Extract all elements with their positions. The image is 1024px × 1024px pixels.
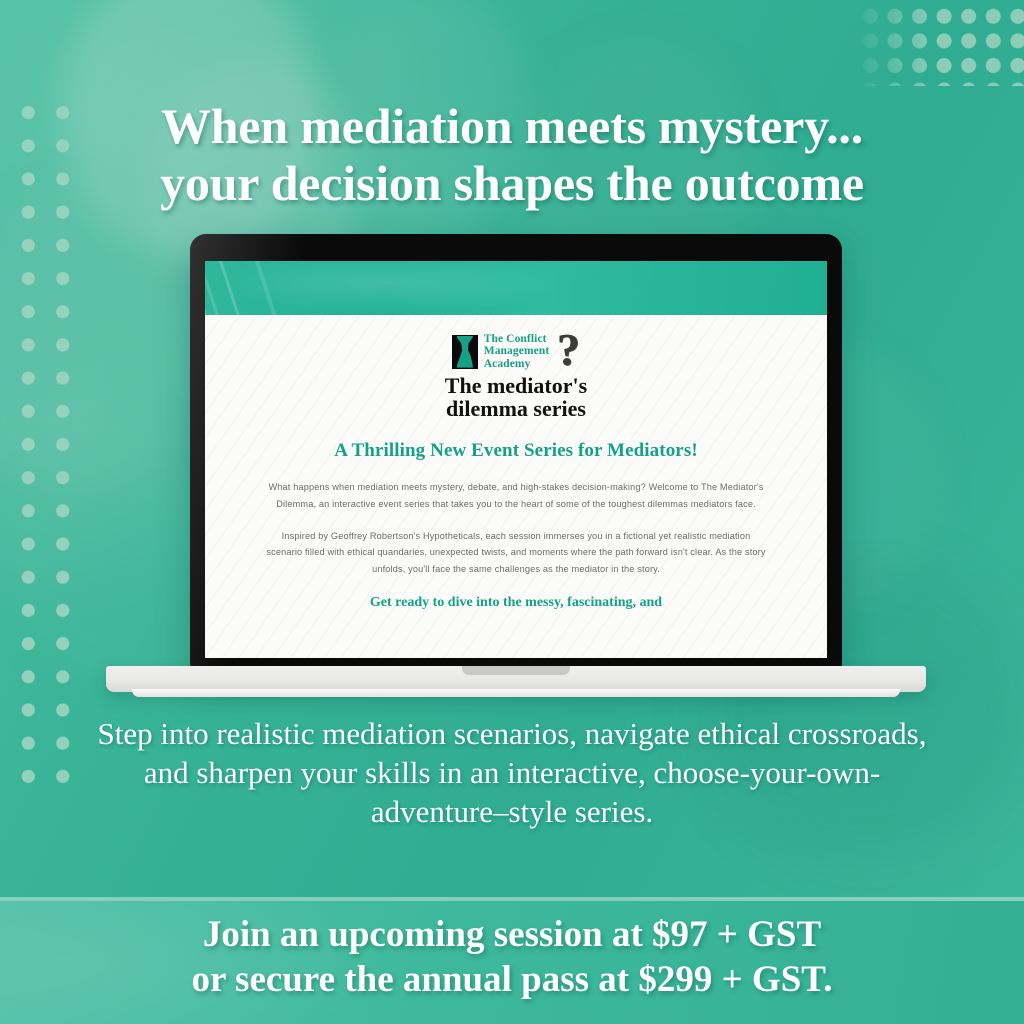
headline-line-1: When mediation meets mystery... — [161, 98, 863, 154]
headline-line-2: your decision shapes the outcome — [60, 155, 964, 212]
brand-logo-row: The Conflict Management Academy ? — [452, 333, 581, 370]
question-mark-icon: ? — [557, 333, 580, 367]
laptop-base-notch — [462, 666, 570, 675]
brand-logo: The Conflict Management Academy ? The me… — [263, 315, 769, 420]
laptop-mockup: The Conflict Management Academy ? The me… — [106, 234, 926, 704]
webpage-cta-clipped: Get ready to dive into the messy, fascin… — [263, 595, 769, 611]
laptop-base-lip — [132, 689, 900, 697]
faces-vase-icon — [452, 335, 478, 369]
laptop-screen: The Conflict Management Academy ? The me… — [205, 261, 827, 658]
brand-name: The Conflict Management Academy — [484, 333, 550, 370]
webpage-paragraph-1: What happens when mediation meets myster… — [263, 479, 769, 512]
cta-line-1: Join an upcoming session at $97 + GST — [203, 914, 821, 955]
webpage-heading: A Thrilling New Event Series for Mediato… — [263, 440, 769, 462]
subtitle-text: Step into realistic mediation scenarios,… — [0, 714, 1024, 831]
horizontal-divider — [0, 897, 1024, 901]
laptop-lid: The Conflict Management Academy ? The me… — [190, 234, 842, 668]
diagonal-stripes-decoration — [0, 851, 360, 895]
pricing-cta: Join an upcoming session at $97 + GST or… — [0, 912, 1024, 1002]
dot-grid-top-right-decoration — [852, 0, 1024, 86]
cta-line-2: or secure the annual pass at $299 + GST. — [40, 957, 984, 1002]
vase-shape — [457, 336, 473, 368]
webpage-body: The Conflict Management Academy ? The me… — [205, 315, 827, 658]
series-title: The mediator's dilemma series — [445, 374, 587, 420]
webpage-header-band — [205, 261, 827, 315]
webpage-paragraph-2: Inspired by Geoffrey Robertson's Hypothe… — [263, 528, 769, 577]
page-title: When mediation meets mystery... your dec… — [0, 98, 1024, 212]
